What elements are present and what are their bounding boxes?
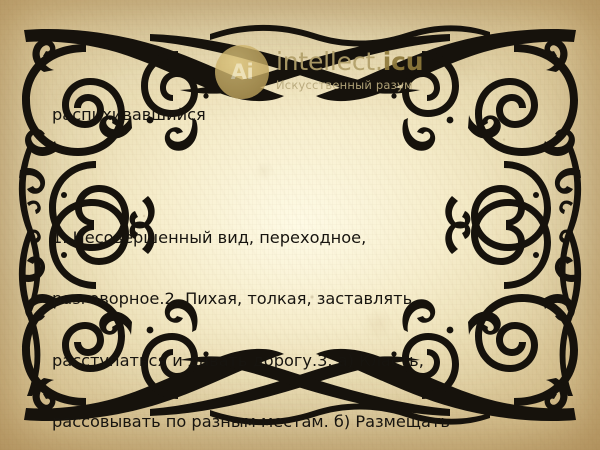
article-headword: распихивавшийся: [52, 105, 548, 126]
article-line: расступаться и давать дорогу.3. а) Класт…: [52, 351, 548, 372]
edge-wave-left: [19, 145, 41, 311]
article-line: разговорное.2. Пихая, толкая, заставлять: [52, 289, 548, 310]
slide-canvas: Ai intellect.icu Искусственный разум рас…: [0, 0, 600, 450]
edge-wave-top: [210, 25, 490, 47]
dictionary-article: распихивавшийся 1. Несовершенный вид, пе…: [52, 64, 548, 450]
article-line: 1. Несовершенный вид, переходное,: [52, 228, 548, 249]
edge-wave-right-2: [560, 230, 582, 396]
edge-wave-right: [560, 145, 582, 311]
article-spacer: [52, 167, 548, 187]
edge-wave-left-2: [19, 230, 41, 396]
article-line: рассовывать по разным местам. б) Размеща…: [52, 412, 548, 433]
